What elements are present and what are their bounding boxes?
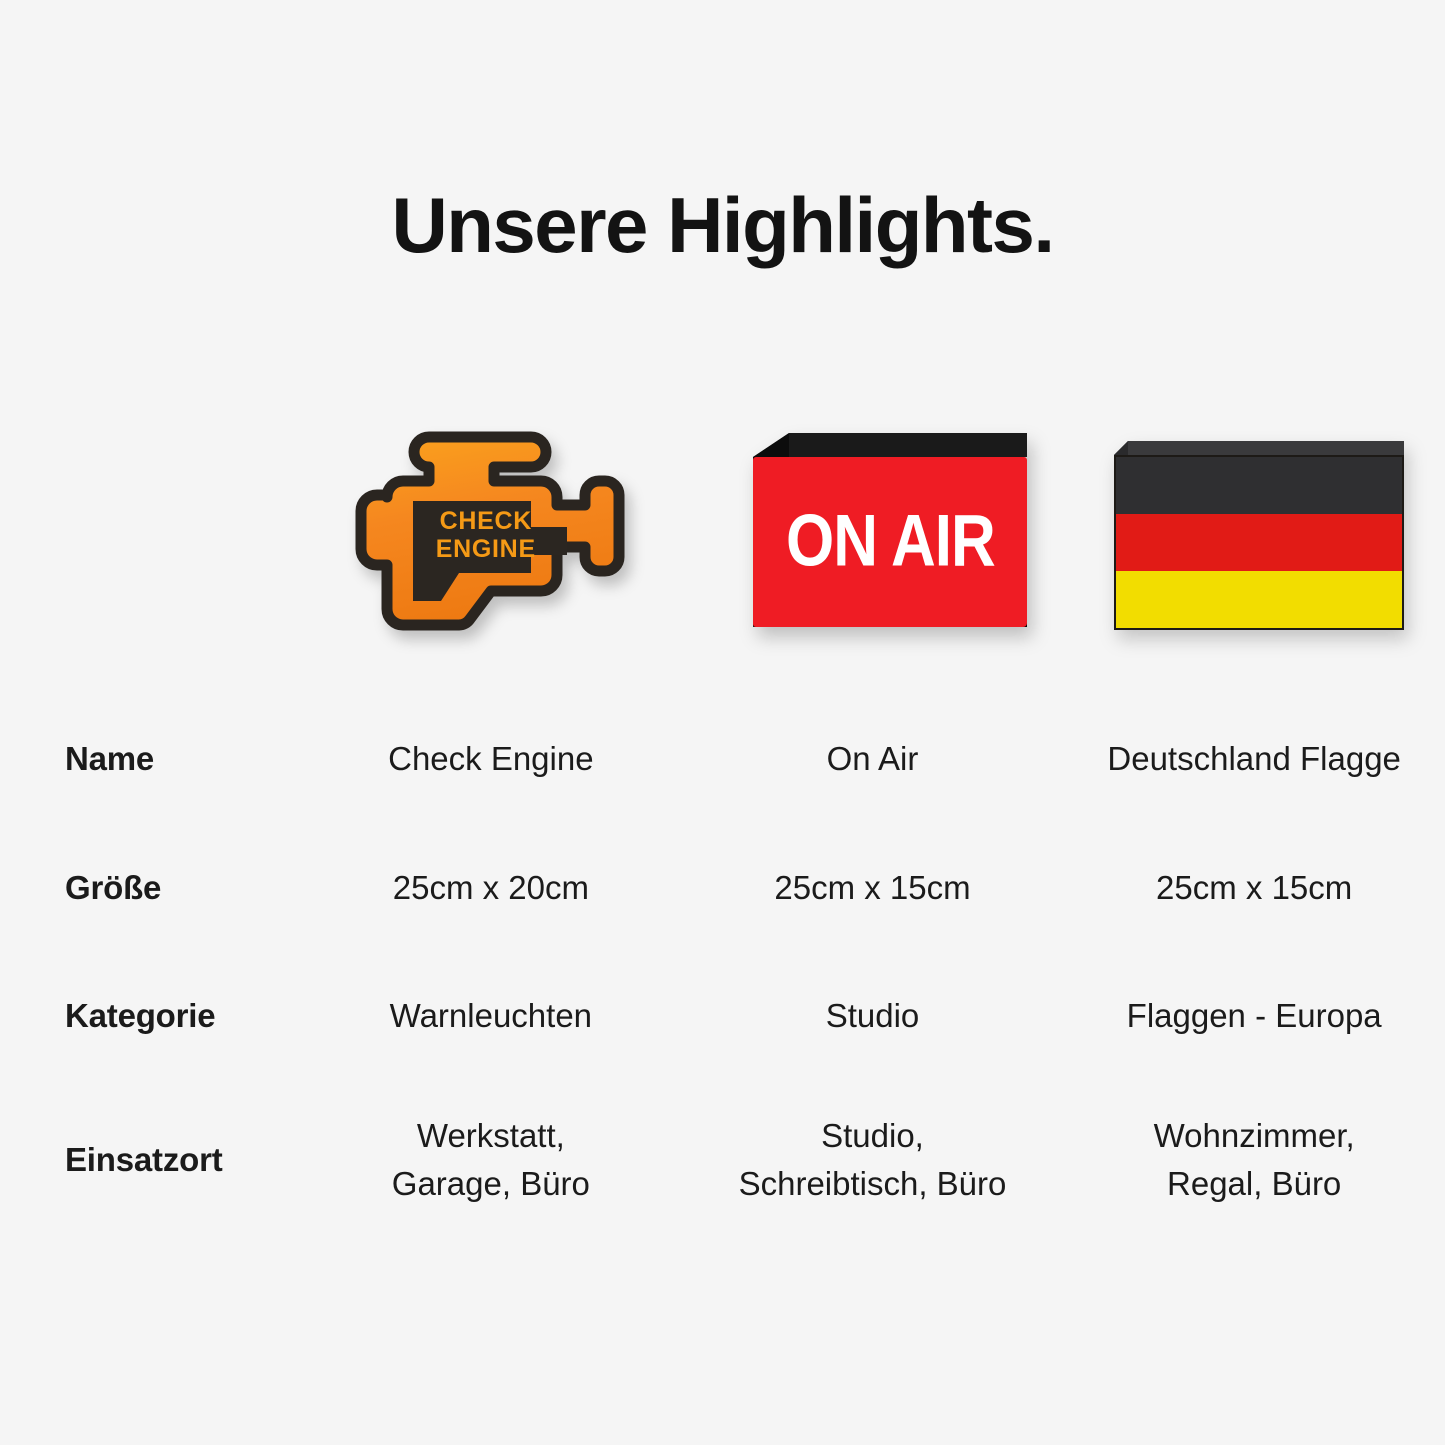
spec-value-groesse-deutschland-flagge: 25cm x 15cm	[1063, 823, 1445, 952]
table-row: Kategorie Warnleuchten Studio Flaggen - …	[0, 952, 1445, 1080]
table-row: Name Check Engine On Air Deutschland Fla…	[0, 694, 1445, 823]
spec-value-kategorie-check-engine: Warnleuchten	[300, 952, 682, 1080]
spec-value-groesse-on-air: 25cm x 15cm	[682, 823, 1064, 952]
check-engine-shape	[341, 415, 641, 651]
flag-band-yellow	[1116, 571, 1402, 628]
spec-label-name: Name	[0, 694, 300, 823]
product-image-check-engine[interactable]: CHECK ENGINE	[300, 400, 682, 665]
on-air-front-face: ON AIR	[753, 457, 1027, 627]
table-row: Einsatzort Werkstatt, Garage, Büro Studi…	[0, 1080, 1445, 1240]
flag-band-red	[1116, 514, 1402, 571]
product-spec-table: Name Check Engine On Air Deutschland Fla…	[0, 694, 1445, 1240]
product-image-row: CHECK ENGINE ON AIR	[0, 400, 1445, 665]
page-title: Unsere Highlights.	[0, 183, 1445, 269]
spec-value-einsatzort-on-air: Studio, Schreibtisch, Büro	[682, 1080, 1064, 1240]
germany-flag-lightbox-icon	[1104, 435, 1404, 630]
spec-label-kategorie: Kategorie	[0, 952, 300, 1080]
spec-value-einsatzort-check-engine: Werkstatt, Garage, Büro	[300, 1080, 682, 1240]
spec-value-kategorie-deutschland-flagge: Flaggen - Europa	[1063, 952, 1445, 1080]
on-air-lightbox-icon: ON AIR	[717, 433, 1027, 633]
product-image-deutschland-flagge[interactable]	[1063, 400, 1445, 665]
spec-value-groesse-check-engine: 25cm x 20cm	[300, 823, 682, 952]
table-row: Größe 25cm x 20cm 25cm x 15cm 25cm x 15c…	[0, 823, 1445, 952]
product-image-on-air[interactable]: ON AIR	[682, 400, 1064, 665]
on-air-sign-text: ON AIR	[786, 505, 995, 578]
spec-label-groesse: Größe	[0, 823, 300, 952]
spec-value-name-on-air: On Air	[682, 694, 1064, 823]
spec-label-einsatzort: Einsatzort	[0, 1080, 300, 1240]
spec-value-name-check-engine: Check Engine	[300, 694, 682, 823]
spec-value-einsatzort-deutschland-flagge: Wohnzimmer, Regal, Büro	[1063, 1080, 1445, 1240]
check-engine-lamp-icon: CHECK ENGINE	[341, 415, 641, 651]
row-label-spacer	[0, 400, 300, 665]
spec-value-kategorie-on-air: Studio	[682, 952, 1064, 1080]
germany-flag-front-face	[1114, 455, 1404, 630]
spec-value-name-deutschland-flagge: Deutschland Flagge	[1063, 694, 1445, 823]
flag-band-black	[1116, 457, 1402, 514]
highlights-page: Unsere Highlights.	[0, 0, 1445, 1445]
